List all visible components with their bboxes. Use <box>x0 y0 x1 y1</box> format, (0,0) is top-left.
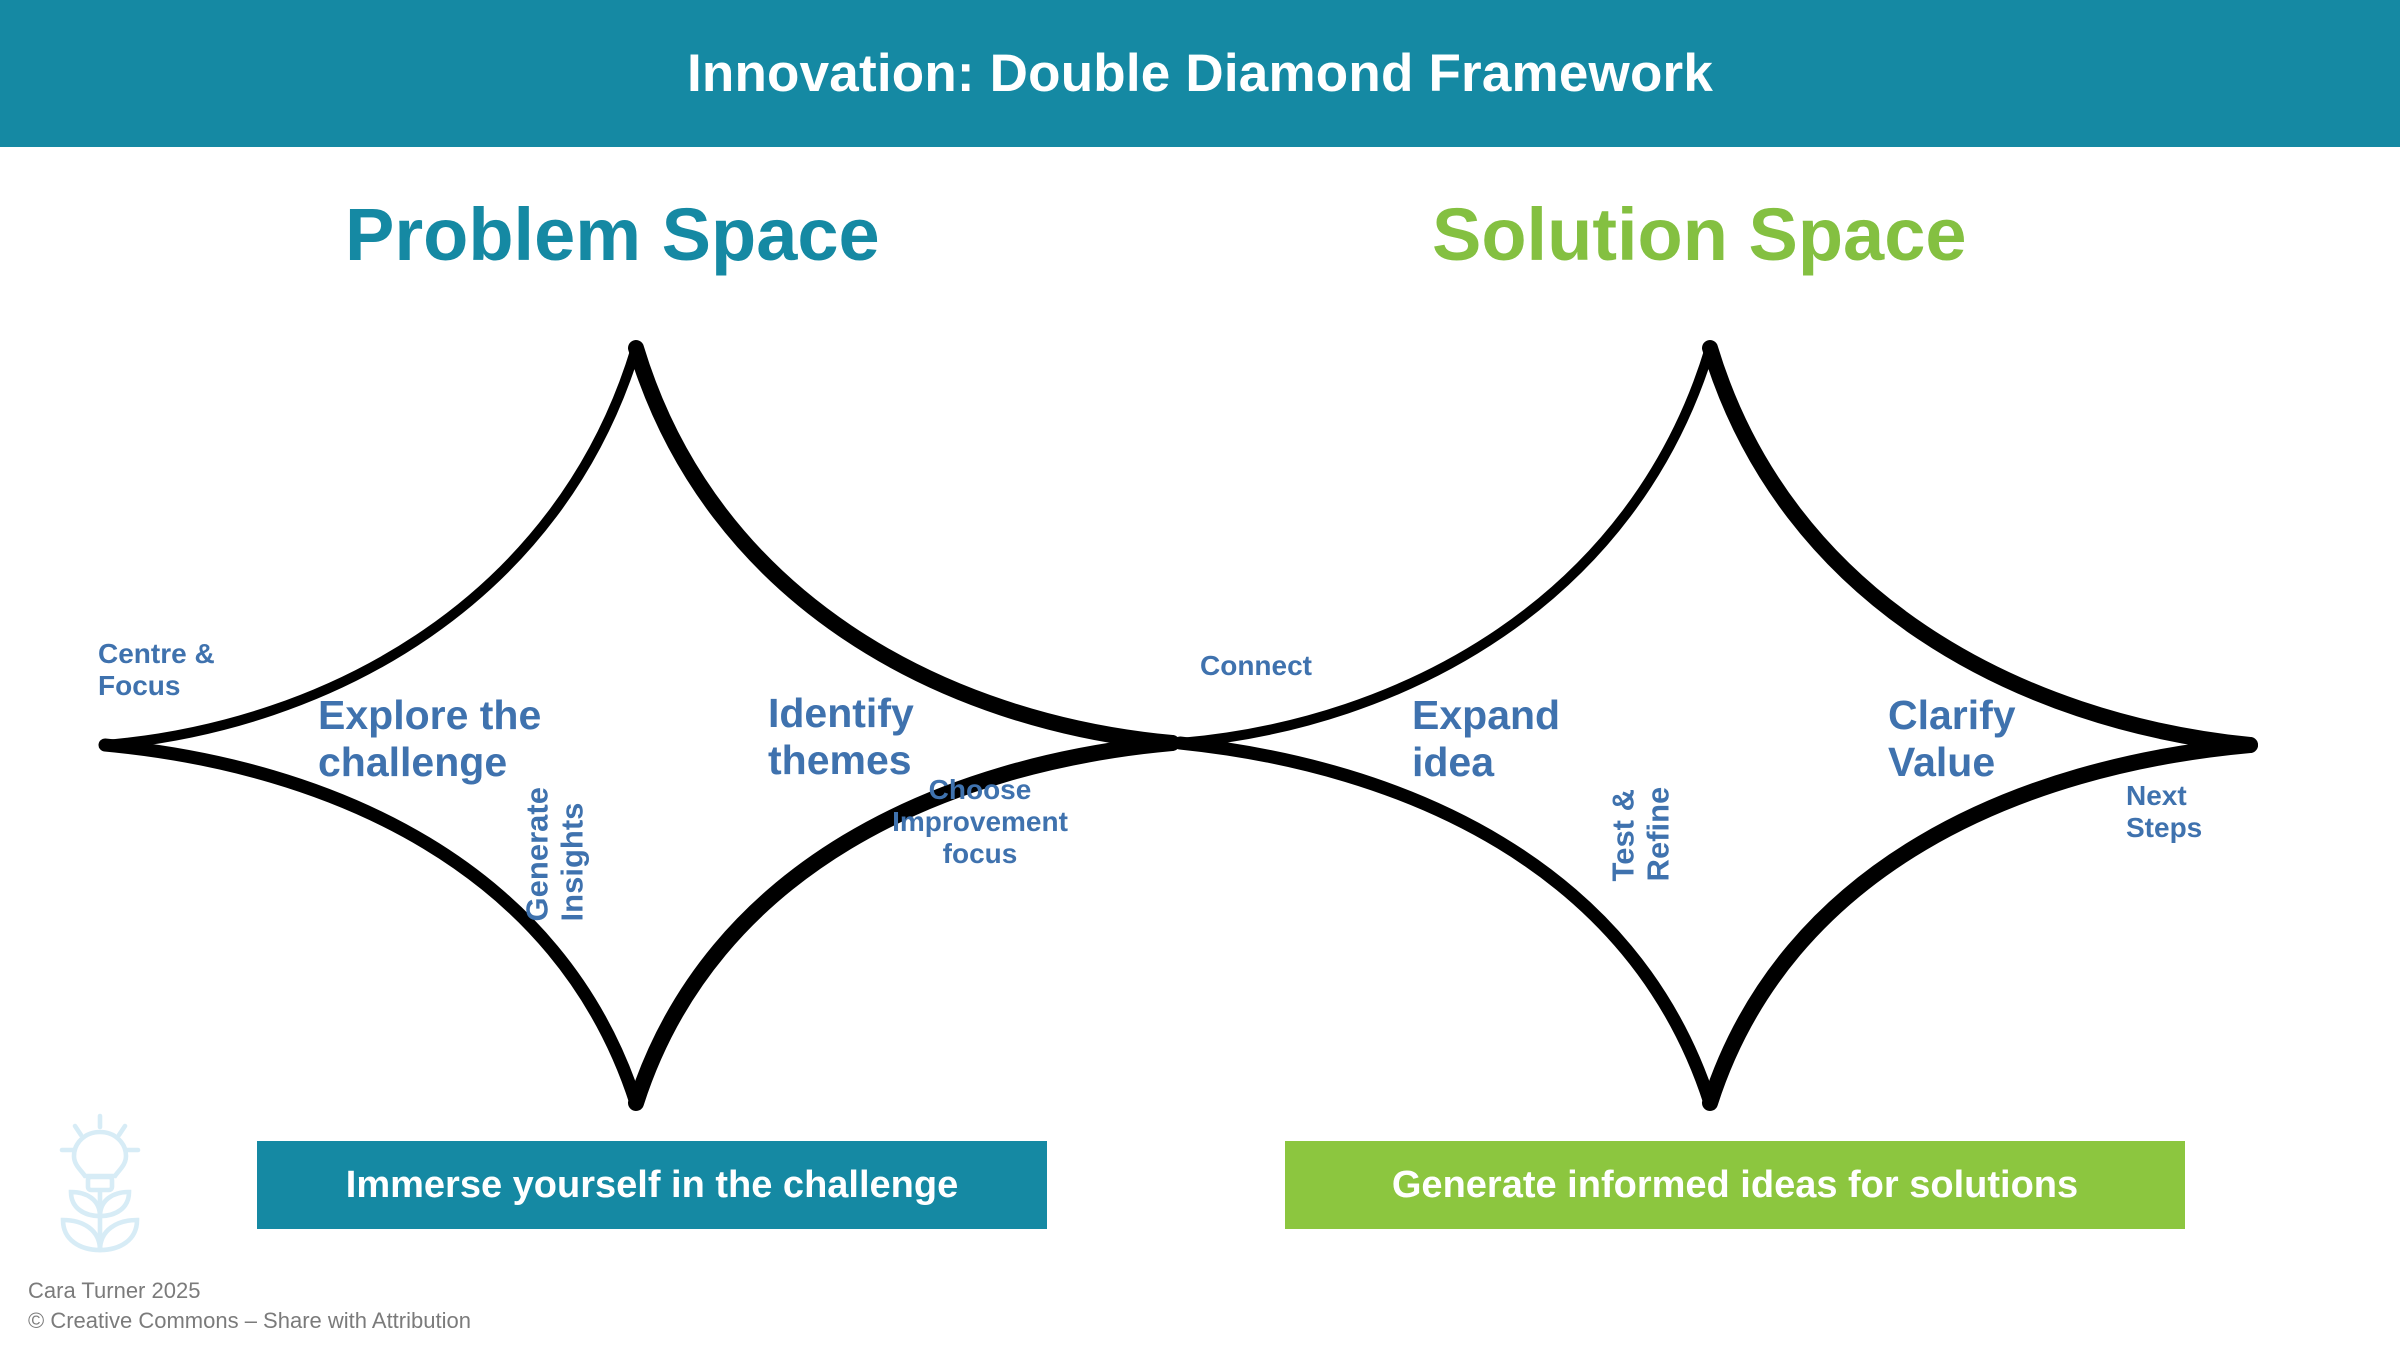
problem-space-banner-label: Immerse yourself in the challenge <box>346 1164 958 1207</box>
solution-space-banner-label: Generate informed ideas for solutions <box>1392 1164 2078 1207</box>
attribution-license: © Creative Commons – Share with Attribut… <box>28 1308 471 1334</box>
label-centre-and-focus: Centre & Focus <box>98 638 215 702</box>
label-choose-improvement-focus: Choose Improvement focus <box>892 774 1068 871</box>
label-explore-the-challenge: Explore the challenge <box>318 692 541 786</box>
solution-space-banner: Generate informed ideas for solutions <box>1285 1141 2185 1229</box>
attribution-author: Cara Turner 2025 <box>28 1278 200 1304</box>
label-connect: Connect <box>1200 650 1312 682</box>
slide-canvas: Innovation: Double Diamond Framework Pro… <box>0 0 2400 1350</box>
label-expand-idea: Expand idea <box>1412 692 1560 786</box>
problem-space-heading: Problem Space <box>345 192 880 277</box>
solution-space-heading: Solution Space <box>1432 192 1967 277</box>
problem-space-banner: Immerse yourself in the challenge <box>257 1141 1047 1229</box>
label-test-and-refine: Test & Refine <box>1607 787 1676 882</box>
page-title: Innovation: Double Diamond Framework <box>687 43 1713 104</box>
lightbulb-plant-icon <box>45 1112 155 1260</box>
label-generate-insights: Generate Insights <box>521 787 590 921</box>
label-identify-themes: Identify themes <box>768 690 914 784</box>
label-next-steps: Next Steps <box>2126 780 2202 844</box>
header-bar: Innovation: Double Diamond Framework <box>0 0 2400 147</box>
label-clarify-value: Clarify Value <box>1888 692 2016 786</box>
